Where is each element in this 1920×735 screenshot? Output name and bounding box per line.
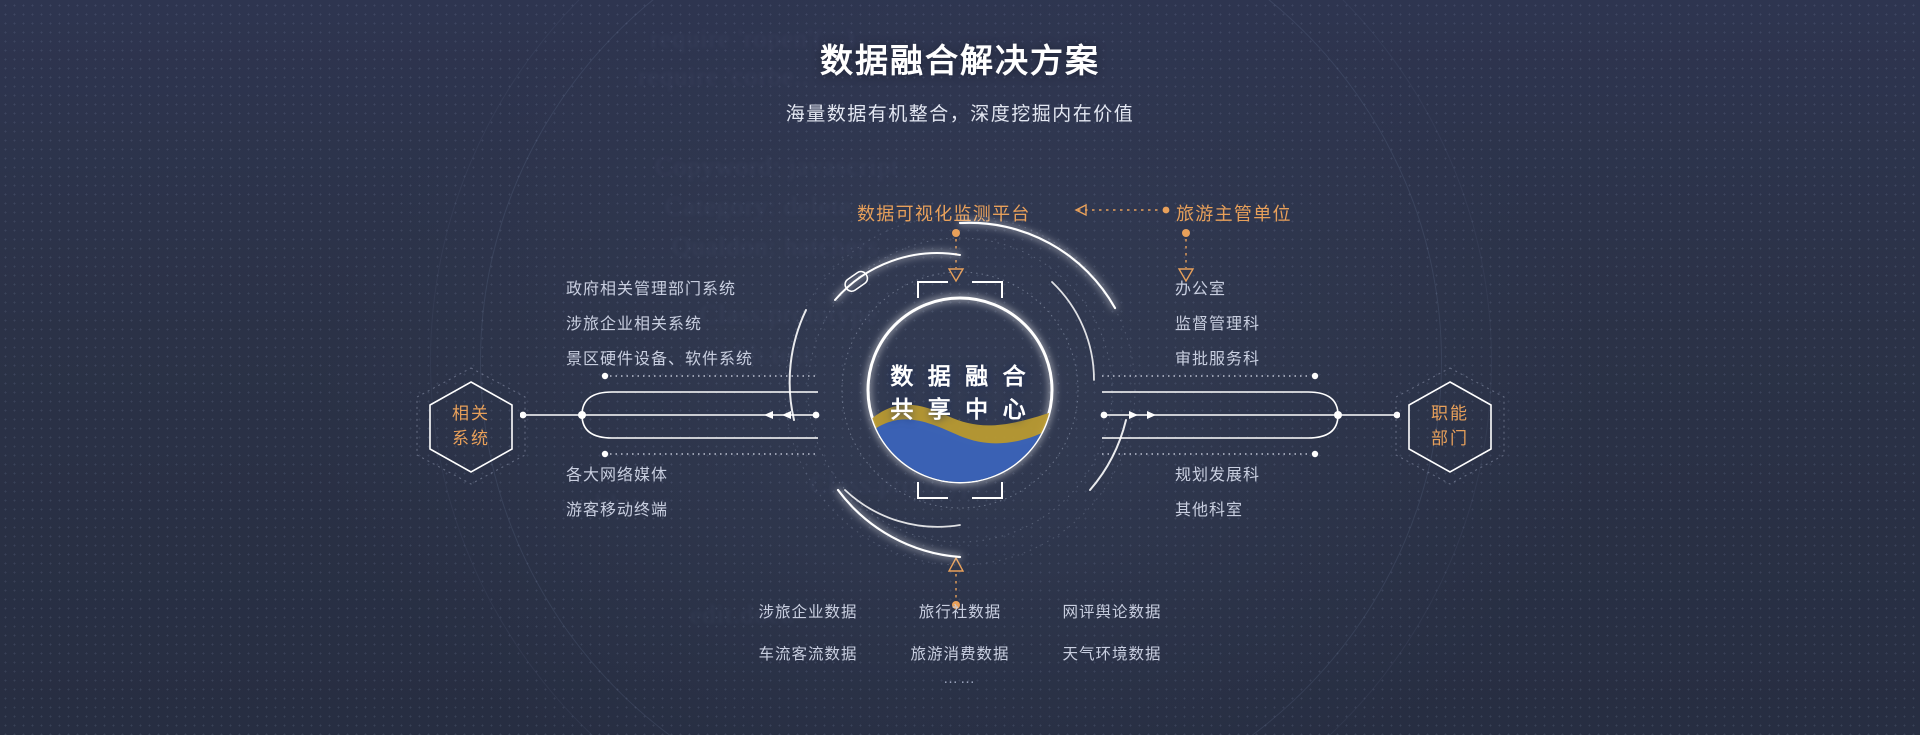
- bg-code-text: Copyword: javascript: [655, 152, 900, 182]
- data-source-grid: 涉旅企业数据 旅行社数据 网评舆论数据 车流客流数据 旅游消费数据 天气环境数据: [735, 600, 1185, 664]
- data-source-ellipsis: ……: [735, 670, 1185, 687]
- hexagon-functional-departments[interactable]: 职能 部门: [1388, 364, 1512, 488]
- diagram-canvas: require 'ropen'(...) require 'corbe.. Co…: [0, 0, 1920, 735]
- data-source-item: 车流客流数据: [735, 642, 881, 664]
- data-source-item: 天气环境数据: [1039, 642, 1185, 664]
- data-source-item: 涉旅企业数据: [735, 600, 881, 622]
- list-item: 游客移动终端: [566, 493, 668, 528]
- data-source-item: 网评舆论数据: [1039, 600, 1185, 622]
- list-item: 各大网络媒体: [566, 458, 668, 493]
- header: 数据融合解决方案 海量数据有机整合，深度挖掘内在价值: [0, 34, 1920, 126]
- page-title: 数据融合解决方案: [0, 34, 1920, 82]
- data-source-item: 旅行社数据: [887, 600, 1033, 622]
- center-hub-graphic[interactable]: 数 据 融 合 共 享 中 心: [660, 190, 1260, 590]
- page-subtitle: 海量数据有机整合，深度挖掘内在价值: [0, 99, 1920, 126]
- list-left-bottom: 各大网络媒体 游客移动终端: [566, 458, 668, 528]
- center-rings: [660, 190, 1260, 590]
- hexagon-related-systems[interactable]: 相关 系统: [409, 364, 533, 488]
- data-source-item: 旅游消费数据: [887, 642, 1033, 664]
